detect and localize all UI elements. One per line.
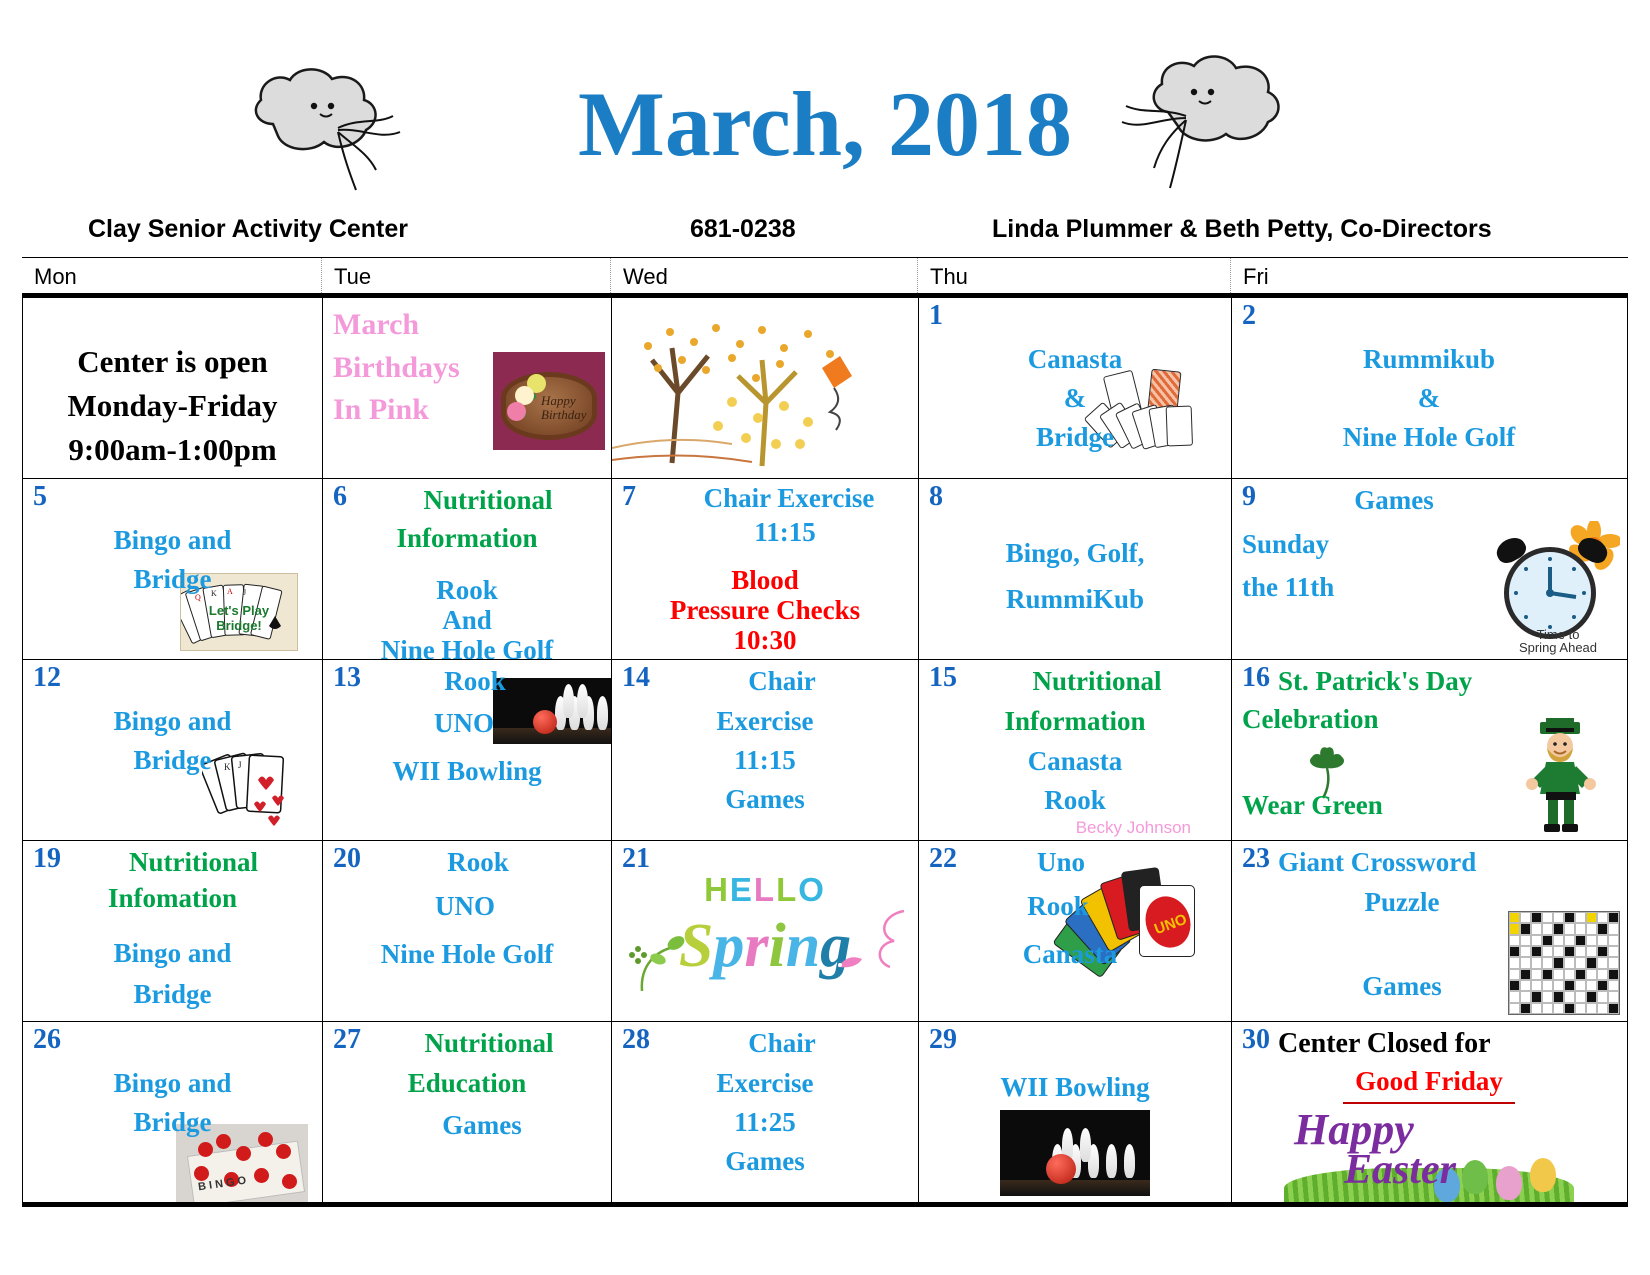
- event-line: Bingo and: [23, 933, 322, 974]
- event-line: &: [919, 379, 1231, 418]
- day-number: 15: [929, 664, 957, 692]
- day-number: 7: [622, 483, 636, 511]
- event-line: Canasta: [919, 742, 1231, 781]
- center-name: Clay Senior Activity Center: [88, 215, 408, 244]
- event-line: Rook: [919, 781, 1231, 820]
- event-line: Information: [919, 702, 1231, 741]
- hello-spring-graphic: HELLO Spring: [612, 871, 918, 976]
- event-line: 11:15: [612, 741, 918, 780]
- phone-number: 681-0238: [690, 215, 796, 244]
- event-line: Bingo and: [23, 521, 322, 560]
- day-header-row: Mon Tue Wed Thu Fri: [22, 257, 1628, 293]
- day-cell-21[interactable]: 21 HELLO Spring: [611, 841, 918, 1021]
- event-line: Pressure Checks: [612, 595, 918, 625]
- event-line: Sunday: [1242, 523, 1334, 566]
- event-line: Celebration: [1242, 700, 1626, 739]
- event-line: Games: [612, 780, 918, 819]
- day-number: 30: [1242, 1026, 1270, 1054]
- day-cell-20[interactable]: 20 Rook UNO Nine Hole Golf: [322, 841, 611, 1021]
- event-line: Games: [612, 1142, 918, 1181]
- day-header-fri: Fri: [1230, 258, 1625, 293]
- event-headline: Chair Exercise: [660, 483, 918, 513]
- day-cell-23[interactable]: 23 Giant Crossword Puzzle Games: [1231, 841, 1626, 1021]
- event-line: Bridge: [23, 974, 322, 1015]
- calendar-page: March, 2018 Clay Senior Activity Center …: [0, 0, 1650, 1275]
- calendar-week-row: Center is open Monday-Friday 9:00am-1:00…: [23, 298, 1627, 479]
- event-line: Puzzle: [1231, 883, 1626, 922]
- event-headline: Rook: [339, 664, 611, 699]
- day-cell-hours-notice[interactable]: Center is open Monday-Friday 9:00am-1:00…: [23, 298, 322, 478]
- happy-easter-graphic: Happy Easter: [1284, 1098, 1574, 1202]
- event-line: Infomation: [23, 879, 322, 918]
- birthday-line-1: March: [333, 304, 460, 347]
- event-headline: Nutritional: [367, 1026, 611, 1061]
- event-headline: Uno: [918, 845, 1231, 880]
- event-line: UNO: [322, 704, 611, 743]
- event-line: WII Bowling: [919, 1068, 1231, 1107]
- event-line: RummiKub: [919, 577, 1231, 623]
- easter-easter-text: Easter: [1344, 1146, 1456, 1194]
- clock-hands-icon: [1504, 547, 1596, 639]
- directors-names: Linda Plummer & Beth Petty, Co-Directors: [992, 215, 1492, 244]
- event-line: Bridge: [23, 1103, 322, 1142]
- day-number: 1: [929, 302, 943, 330]
- hours-line-1: Center is open: [23, 340, 322, 384]
- event-line: Rummikub: [1232, 340, 1626, 379]
- day-cell-6[interactable]: 6 Nutritional Information Rook And Nine …: [322, 479, 611, 659]
- day-number: 5: [33, 483, 47, 511]
- day-number: 19: [33, 845, 61, 873]
- day-cell-29[interactable]: 29 WII Bowling: [918, 1022, 1231, 1202]
- day-number: 6: [333, 483, 347, 511]
- spring-bird-icon: [820, 901, 912, 989]
- hours-line-2: Monday-Friday: [23, 384, 322, 428]
- event-line: Bridge: [23, 741, 322, 780]
- event-line: Canasta: [919, 340, 1231, 379]
- birthday-line-2: Birthdays: [333, 347, 460, 390]
- event-line: Wear Green: [1242, 786, 1626, 825]
- calendar-week-row: 5 Bingo and Bridge: [23, 479, 1627, 660]
- event-line: Rook: [323, 575, 611, 605]
- day-number: 21: [622, 845, 650, 873]
- event-line: Bingo and: [23, 702, 322, 741]
- calendar-week-row: 19 Nutritional Infomation Bingo and Brid…: [23, 841, 1627, 1022]
- windy-trees-icon: [612, 298, 918, 478]
- day-number: 12: [33, 664, 61, 692]
- event-line: Games: [1231, 967, 1626, 1006]
- event-line: Canasta: [918, 935, 1231, 974]
- day-header-thu: Thu: [917, 258, 1230, 293]
- event-line: Nine Hole Golf: [1232, 418, 1626, 457]
- day-cell-26[interactable]: 26 Bingo and Bridge B I N G O: [23, 1022, 322, 1202]
- event-headline: Rook: [345, 845, 611, 880]
- event-headline: St. Patrick's Day: [1278, 664, 1626, 699]
- event-headline: Chair: [646, 1026, 918, 1061]
- event-headline: Games: [1231, 483, 1626, 518]
- event-line: 11:15: [652, 513, 918, 552]
- event-line: Rook: [918, 887, 1231, 926]
- event-line: Exercise: [612, 1064, 918, 1103]
- day-cell-8[interactable]: 8 Bingo, Golf, RummiKub: [918, 479, 1231, 659]
- calendar-banner: March, 2018: [0, 0, 1650, 215]
- day-cell-2[interactable]: 2 Rummikub & Nine Hole Golf: [1231, 298, 1626, 478]
- day-cell-birthday-notice[interactable]: March Birthdays In Pink HappyBirthday: [322, 298, 611, 478]
- instructor-note: Becky Johnson: [1076, 818, 1191, 838]
- calendar-grid: Center is open Monday-Friday 9:00am-1:00…: [22, 293, 1628, 1207]
- event-line: Bridge: [919, 418, 1231, 457]
- day-cell-30[interactable]: 30 Center Closed for Good Friday Happy E…: [1231, 1022, 1626, 1202]
- calendar-week-row: 26 Bingo and Bridge B I N G O: [23, 1022, 1627, 1202]
- day-cell-12[interactable]: 12 Bingo and Bridge: [23, 660, 322, 840]
- event-headline: Center Closed for: [1278, 1026, 1626, 1062]
- info-bar: Clay Senior Activity Center 681-0238 Lin…: [22, 215, 1628, 251]
- day-number: 2: [1242, 302, 1256, 330]
- day-cell-5[interactable]: 5 Bingo and Bridge: [23, 479, 322, 659]
- day-cell-13[interactable]: 13 Rook UNO WII Bowling: [322, 660, 611, 840]
- event-line: Games: [353, 1106, 611, 1145]
- day-cell-7[interactable]: 7 Chair Exercise 11:15 Blood Pressure Ch…: [611, 479, 918, 659]
- day-cell-27[interactable]: 27 Nutritional Education Games: [322, 1022, 611, 1202]
- bowling-photo-icon: [1000, 1110, 1150, 1196]
- day-number: 16: [1242, 664, 1270, 692]
- day-cell-9[interactable]: 9 Games Sunday the 11th: [1231, 479, 1626, 659]
- event-headline: Nutritional: [65, 845, 322, 880]
- day-cell-15[interactable]: 15 Nutritional Information Canasta Rook …: [918, 660, 1231, 840]
- event-line: Education: [323, 1064, 611, 1103]
- event-line: Nine Hole Golf: [323, 935, 611, 974]
- event-line: Bingo and: [23, 1064, 322, 1103]
- event-headline: Nutritional: [365, 483, 611, 518]
- event-line: &: [1232, 379, 1626, 418]
- day-number: 23: [1242, 845, 1270, 873]
- event-headline: Nutritional: [963, 664, 1231, 699]
- day-header-wed: Wed: [610, 258, 917, 293]
- event-line: Information: [323, 519, 611, 558]
- event-line: UNO: [322, 887, 611, 926]
- day-cell-autumn-art[interactable]: [611, 298, 918, 478]
- event-line: Blood: [612, 565, 918, 595]
- day-cell-14[interactable]: 14 Chair Exercise 11:15 Games: [611, 660, 918, 840]
- event-headline: Giant Crossword: [1278, 845, 1626, 880]
- day-cell-22[interactable]: 22 Uno Rook Canasta UNO: [918, 841, 1231, 1021]
- day-number: 8: [929, 483, 943, 511]
- event-line: Nine Hole Golf: [323, 635, 611, 659]
- event-line: Bridge: [23, 560, 322, 599]
- birthday-line-3: In Pink: [333, 389, 460, 432]
- day-cell-19[interactable]: 19 Nutritional Infomation Bingo and Brid…: [23, 841, 322, 1021]
- event-line: the 11th: [1242, 566, 1334, 609]
- event-line: Good Friday: [1343, 1062, 1515, 1104]
- day-cell-28[interactable]: 28 Chair Exercise 11:25 Games: [611, 1022, 918, 1202]
- event-line: 11:25: [612, 1103, 918, 1142]
- day-number: 27: [333, 1026, 361, 1054]
- birthday-cake-icon: HappyBirthday: [493, 352, 605, 450]
- calendar-week-row: 12 Bingo and Bridge: [23, 660, 1627, 841]
- event-line: Bingo, Golf,: [919, 531, 1231, 577]
- day-header-mon: Mon: [22, 258, 321, 293]
- event-headline: Chair: [646, 664, 918, 699]
- day-cell-16[interactable]: 16 St. Patrick's Day Celebration Wear Gr…: [1231, 660, 1626, 840]
- day-number: 29: [929, 1026, 957, 1054]
- day-header-tue: Tue: [321, 258, 610, 293]
- day-cell-1[interactable]: 1 Canasta & Bridge: [918, 298, 1231, 478]
- spring-vines-icon: [622, 905, 732, 995]
- event-line: Exercise: [612, 702, 918, 741]
- spring-ahead-clock-icon: Time toSpring Ahead: [1490, 521, 1620, 651]
- spring-ahead-caption: Time toSpring Ahead: [1496, 628, 1620, 655]
- hours-line-3: 9:00am-1:00pm: [23, 428, 322, 472]
- event-line: WII Bowling: [323, 752, 611, 791]
- page-title: March, 2018: [0, 78, 1650, 170]
- day-number: 26: [33, 1026, 61, 1054]
- event-line: And: [323, 605, 611, 635]
- event-line: 10:30: [612, 625, 918, 655]
